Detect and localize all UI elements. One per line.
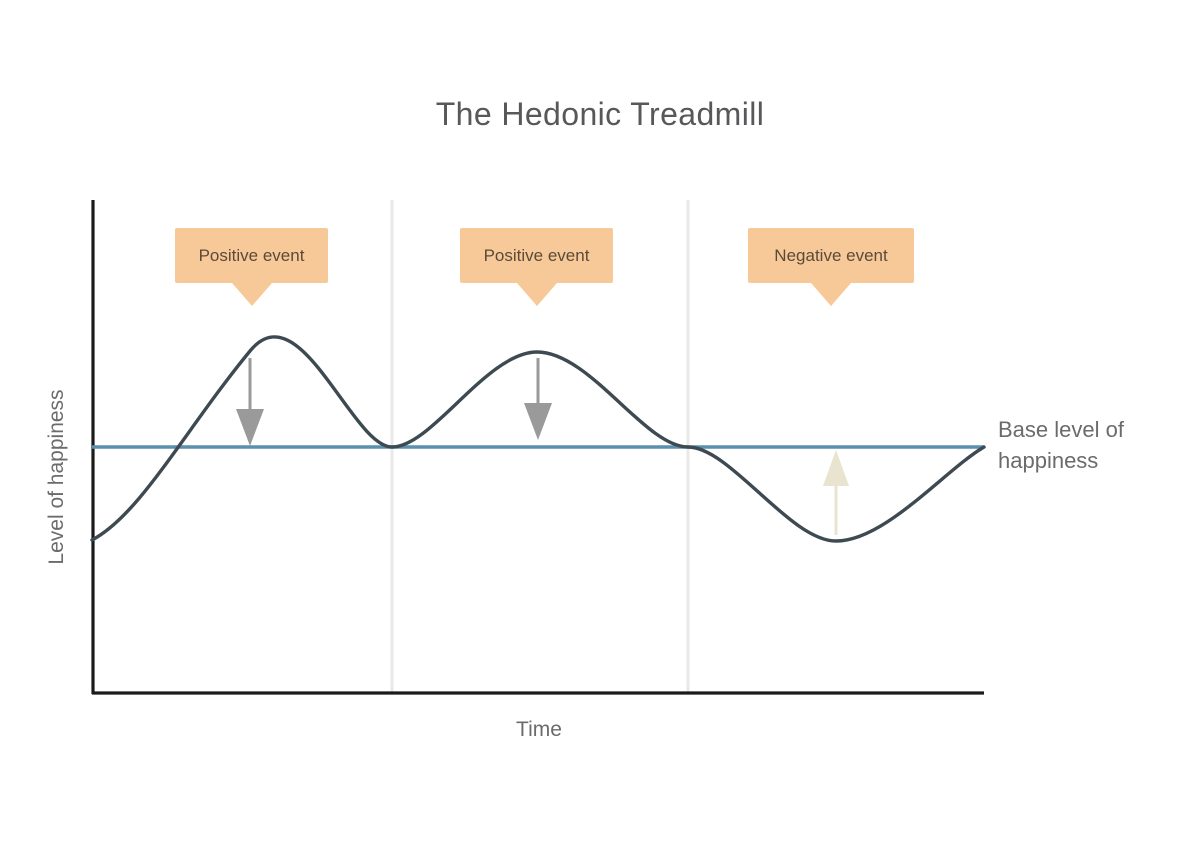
annotation-label: Positive event — [484, 246, 590, 266]
baseline-label: Base level of happiness — [998, 414, 1188, 476]
callout-pointer-icon — [517, 283, 557, 306]
callout-pointer-icon — [232, 283, 272, 306]
baseline-label-line1: Base level of — [998, 414, 1188, 445]
arrow-up-3 — [823, 450, 849, 535]
annotation-callout-positive-1[interactable]: Positive event — [175, 228, 328, 283]
annotation-callout-negative-1[interactable]: Negative event — [748, 228, 914, 283]
arrow-down-1 — [236, 358, 264, 446]
callout-pointer-icon — [811, 283, 851, 306]
y-axis-label: Level of happiness — [45, 357, 69, 597]
x-axis-label: Time — [0, 718, 1078, 742]
arrow-down-2 — [524, 358, 552, 440]
annotation-label: Negative event — [774, 246, 887, 266]
baseline-label-line2: happiness — [998, 445, 1188, 476]
annotation-callout-positive-2[interactable]: Positive event — [460, 228, 613, 283]
annotation-label: Positive event — [199, 246, 305, 266]
chart-canvas: The Hedonic Treadmill Positive event — [0, 0, 1200, 848]
